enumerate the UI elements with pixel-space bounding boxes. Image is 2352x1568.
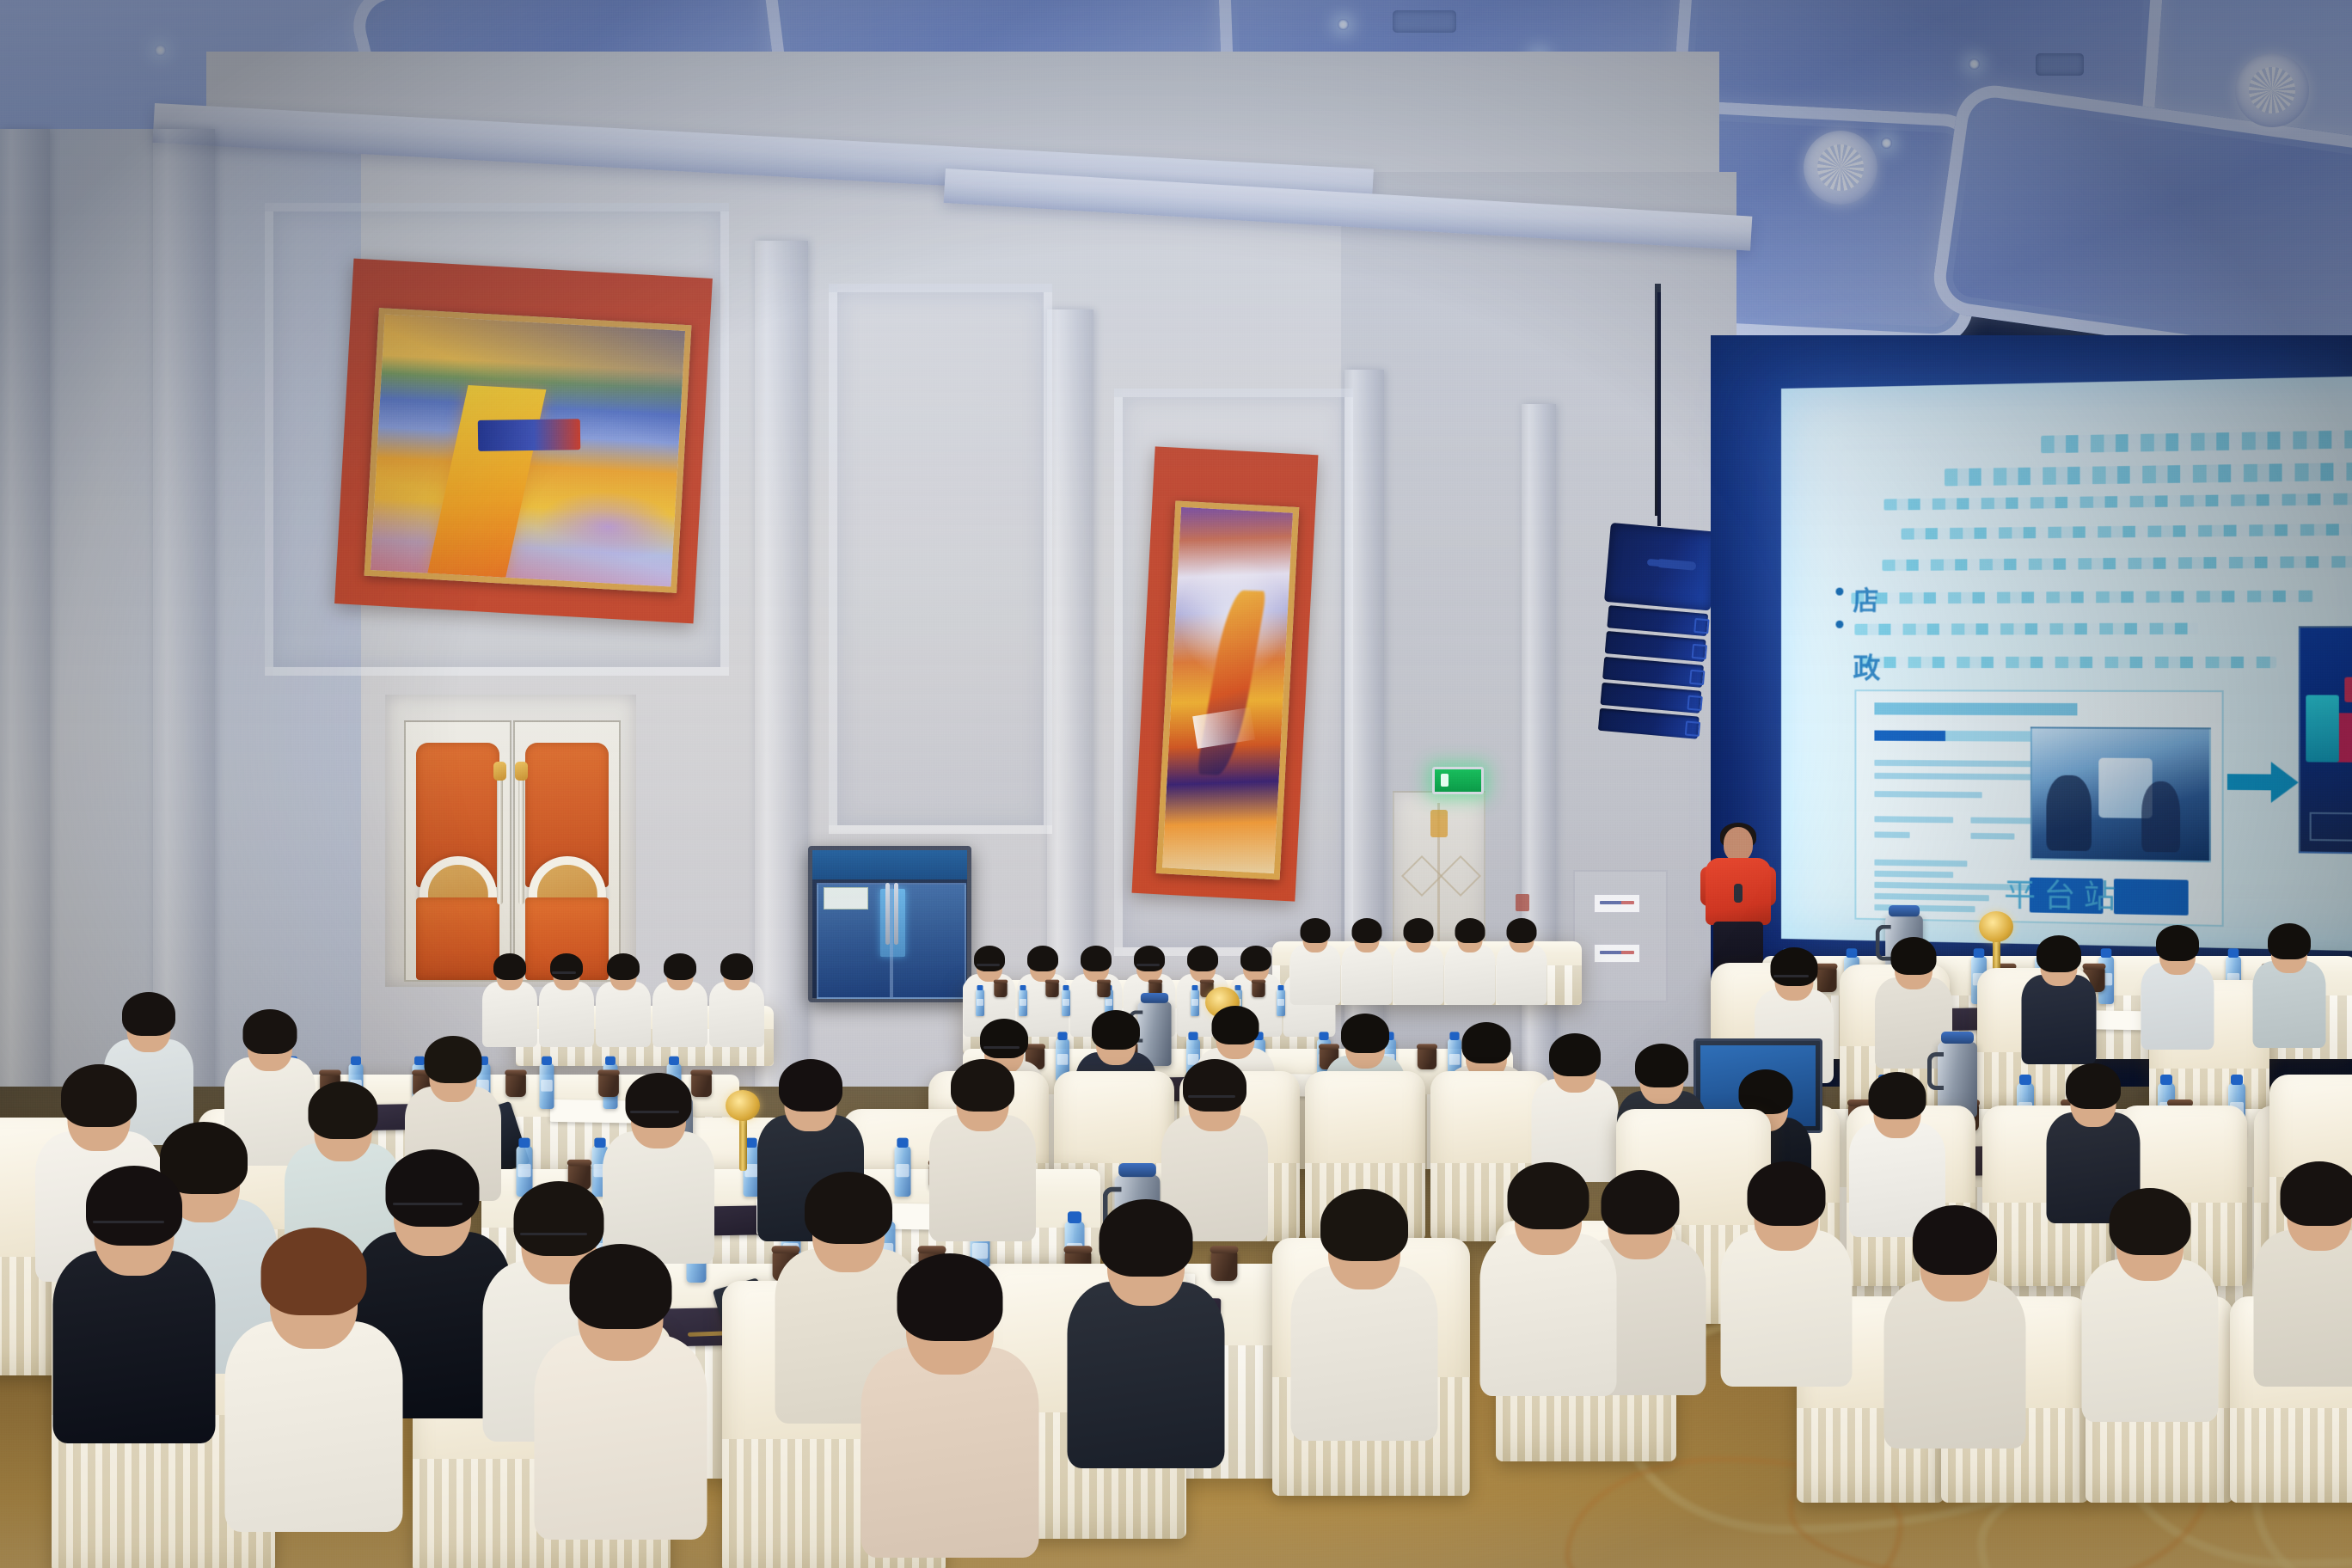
person-torso <box>1884 1280 2026 1449</box>
person-torso <box>2141 963 2214 1050</box>
person-hair <box>1549 1033 1601 1076</box>
audience-member <box>2141 915 2214 1044</box>
person-hair <box>2281 1161 2352 1226</box>
water-bottle <box>1277 989 1285 1016</box>
tea-cup <box>505 1074 526 1097</box>
conference-hall-photograph: 店 政 <box>0 0 2352 1568</box>
person-hair <box>720 953 753 980</box>
eyeglasses <box>552 971 576 974</box>
person-hair <box>1748 1161 1826 1226</box>
person-hair <box>1092 1010 1140 1050</box>
person-torso <box>1290 945 1341 1005</box>
person-hair <box>2037 935 2081 972</box>
person-hair <box>1240 946 1271 971</box>
person-hair <box>425 1036 482 1083</box>
person-hair <box>1134 946 1165 971</box>
person-hair <box>243 1009 297 1054</box>
table-number-stand <box>739 1118 747 1171</box>
person-hair <box>1869 1072 1926 1119</box>
eyeglasses <box>1188 1095 1235 1098</box>
audience-member <box>533 1221 708 1528</box>
person-hair <box>2066 1063 2121 1109</box>
person-hair <box>1099 1199 1193 1277</box>
person-hair <box>1771 947 1818 986</box>
audience-member <box>1066 1178 1226 1458</box>
audience-member <box>1393 911 1444 1001</box>
person-hair <box>1081 946 1112 971</box>
audience-member <box>595 946 651 1043</box>
audience-member <box>52 1143 217 1432</box>
person-hair <box>1187 946 1218 971</box>
audience-member <box>652 946 707 1043</box>
person-torso <box>225 1321 403 1532</box>
person-hair <box>1212 1006 1259 1044</box>
person-hair <box>61 1064 137 1127</box>
person-torso <box>1068 1282 1225 1468</box>
person-hair <box>1301 918 1331 943</box>
person-torso <box>53 1251 216 1443</box>
water-bottle <box>1062 989 1070 1016</box>
person-torso <box>2082 1259 2219 1422</box>
person-torso <box>1393 945 1444 1005</box>
person-hair <box>570 1244 672 1329</box>
person-torso <box>535 1335 707 1540</box>
person-hair <box>1320 1189 1408 1261</box>
person-hair <box>1507 918 1537 943</box>
audience-member <box>1479 1143 1618 1387</box>
person-hair <box>1739 1069 1793 1114</box>
audience-member <box>2252 1143 2352 1378</box>
audience-member <box>2252 913 2326 1043</box>
audience-member <box>2080 1169 2220 1413</box>
tea-cup <box>1097 982 1110 997</box>
audience-member <box>1341 911 1393 1001</box>
eyeglasses <box>1773 975 1809 977</box>
person-hair <box>1455 918 1485 943</box>
water-bottle <box>540 1063 554 1109</box>
person-hair <box>1352 918 1382 943</box>
person-hair <box>2156 925 2199 961</box>
person-torso <box>1445 945 1496 1005</box>
person-hair <box>261 1228 367 1315</box>
person-torso <box>861 1347 1039 1558</box>
person-hair <box>2110 1188 2191 1255</box>
audience-member <box>1719 1143 1853 1378</box>
seating-and-table-group <box>0 0 2352 1568</box>
person-hair <box>86 1166 182 1246</box>
tea-cup <box>994 982 1007 997</box>
person-hair <box>493 953 526 980</box>
person-hair <box>122 992 175 1036</box>
audience-member <box>224 1204 404 1520</box>
eyeglasses <box>630 1111 679 1113</box>
person-torso <box>2253 961 2326 1048</box>
audience-member <box>538 946 594 1043</box>
person-hair <box>664 953 696 980</box>
person-hair <box>897 1253 1003 1341</box>
person-hair <box>2268 923 2311 959</box>
audience-member <box>1444 911 1496 1001</box>
person-hair <box>974 946 1005 971</box>
person-torso <box>929 1115 1036 1241</box>
person-torso <box>1291 1266 1438 1441</box>
audience-member <box>1496 911 1547 1001</box>
eyeglasses <box>977 964 1000 966</box>
person-hair <box>550 953 583 980</box>
person-hair <box>1462 1022 1511 1063</box>
person-hair <box>1027 946 1058 971</box>
person-torso <box>1721 1230 1853 1387</box>
eyeglasses <box>93 1221 164 1223</box>
person-hair <box>1890 937 1936 975</box>
person-hair <box>951 1059 1014 1112</box>
tea-cup <box>1045 982 1058 997</box>
audience-member <box>860 1229 1040 1546</box>
audience-member <box>1289 911 1341 1001</box>
person-torso <box>1342 945 1393 1005</box>
eyeglasses <box>1136 964 1160 966</box>
person-hair <box>1635 1044 1688 1087</box>
audience-member <box>2020 925 2097 1058</box>
person-torso <box>539 982 594 1047</box>
person-hair <box>607 953 640 980</box>
person-hair <box>626 1073 692 1128</box>
person-torso <box>596 982 651 1047</box>
person-torso <box>1497 945 1547 1005</box>
audience-member <box>1883 1186 2027 1439</box>
person-torso <box>1480 1234 1617 1396</box>
audience-member <box>1289 1169 1439 1431</box>
tea-cup <box>1418 1047 1436 1069</box>
person-torso <box>2254 1230 2352 1387</box>
person-hair <box>779 1059 842 1112</box>
person-hair <box>1913 1205 1997 1275</box>
audience-member <box>928 1044 1037 1234</box>
person-hair <box>1183 1059 1246 1112</box>
person-hair <box>1404 918 1434 943</box>
person-hair <box>1508 1162 1589 1229</box>
person-torso <box>709 982 764 1047</box>
person-hair <box>1341 1014 1389 1053</box>
person-torso <box>652 982 707 1047</box>
audience-member <box>708 946 764 1043</box>
